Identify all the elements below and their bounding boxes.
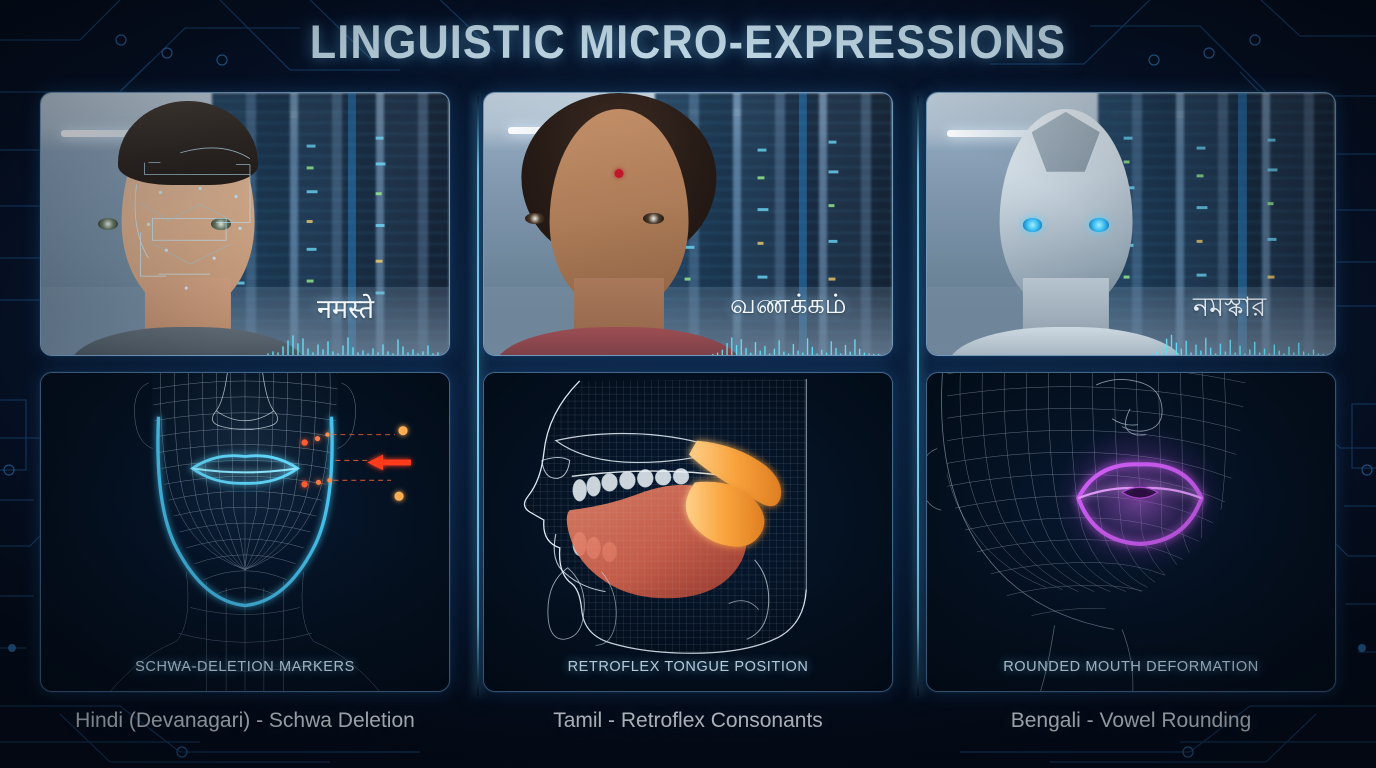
avatar-bengali-robot xyxy=(976,98,1156,356)
page-title: LINGUISTIC MICRO-EXPRESSIONS xyxy=(55,14,1321,69)
panel-rounded-mouth[interactable]: ROUNDED MOUTH DEFORMATION xyxy=(926,372,1336,692)
script-text-bengali: নমস্কার xyxy=(1193,287,1266,332)
photo-hindi-speaker: नमस्ते xyxy=(41,93,449,355)
panel-grid: नमस्ते xyxy=(40,92,1336,692)
caption-schwa-markers: SCHWA-DELETION MARKERS xyxy=(41,659,449,675)
avatar-tamil-speaker xyxy=(525,98,713,356)
sagittal-vocal-tract-diagram xyxy=(484,373,892,691)
panel-retroflex-tongue[interactable]: RETROFLEX TONGUE POSITION xyxy=(483,372,893,692)
wireframe-face-front-diagram xyxy=(41,373,449,691)
avatar-hindi-speaker xyxy=(98,98,278,356)
wireframe-face-rounded-lips-diagram xyxy=(927,373,1335,691)
script-text-tamil: வணக்கம் xyxy=(730,289,846,324)
panel-bengali-speaker[interactable]: নমস্কার xyxy=(926,92,1336,356)
footer-label-tamil: Tamil - Retroflex Consonants xyxy=(483,698,893,744)
panel-hindi-speaker[interactable]: नमस्ते xyxy=(40,92,450,356)
footer-labels: Hindi (Devanagari) - Schwa Deletion Tami… xyxy=(40,698,1336,744)
infographic-stage: LINGUISTIC MICRO-EXPRESSIONS xyxy=(0,0,1376,768)
caption-rounded-mouth: ROUNDED MOUTH DEFORMATION xyxy=(927,659,1335,675)
photo-bengali-speaker: নমস্কার xyxy=(927,93,1335,355)
caption-retroflex-tongue: RETROFLEX TONGUE POSITION xyxy=(484,659,892,675)
script-text-hindi: नमस्ते xyxy=(317,289,374,326)
footer-label-hindi: Hindi (Devanagari) - Schwa Deletion xyxy=(40,698,450,744)
footer-label-bengali: Bengali - Vowel Rounding xyxy=(926,698,1336,744)
photo-tamil-speaker: வணக்கம் xyxy=(484,93,892,355)
panel-schwa-markers[interactable]: SCHWA-DELETION MARKERS xyxy=(40,372,450,692)
panel-tamil-speaker[interactable]: வணக்கம் xyxy=(483,92,893,356)
